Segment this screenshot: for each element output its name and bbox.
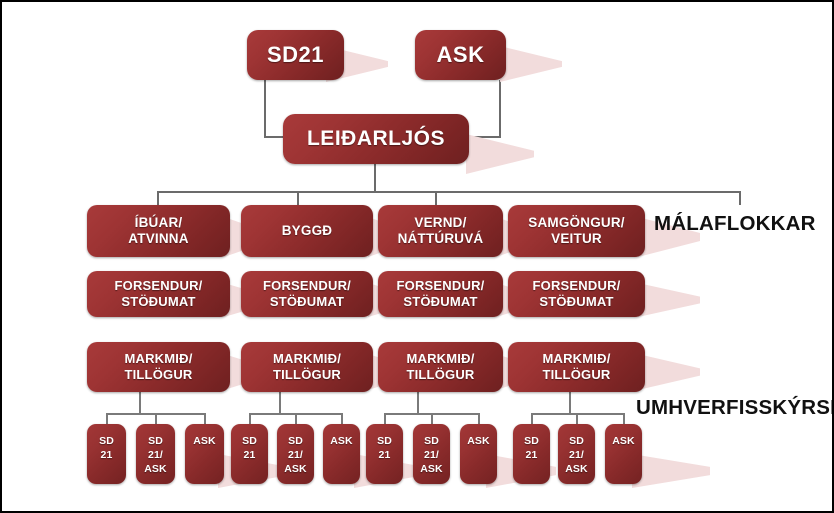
- premises-1-line2: STÖÐUMAT: [115, 294, 203, 310]
- node-leaf-4-2[interactable]: SD 21/ ASK: [558, 424, 595, 484]
- node-category-vernd[interactable]: VERND/ NÁTTÚRUVÁ: [378, 205, 503, 257]
- node-leaf-3-2[interactable]: SD 21/ ASK: [413, 424, 450, 484]
- category-ibuar-line1: ÍBÚAR/: [128, 215, 188, 231]
- leaf-4-1-line1: SD: [524, 435, 539, 449]
- connector-leaf-3-1: [384, 413, 386, 424]
- connector-bus-col2: [297, 191, 299, 205]
- connector-leaf-4-1: [531, 413, 533, 424]
- category-byggd-line1: BYGGÐ: [282, 223, 333, 239]
- caption-umhverfisskyrsla: UMHVERFISSKÝRSLA: [636, 396, 834, 420]
- goals-3-line2: TILLÖGUR: [406, 367, 474, 383]
- node-premises-4[interactable]: FORSENDUR/ STÖÐUMAT: [508, 271, 645, 317]
- node-leaf-2-3[interactable]: ASK: [323, 424, 360, 484]
- leaf-3-2-line2: 21/: [420, 449, 442, 463]
- leaf-3-2-line3: ASK: [420, 463, 442, 477]
- node-leaf-4-3[interactable]: ASK: [605, 424, 642, 484]
- connector-ask-to-lead: [466, 136, 501, 138]
- leaf-3-1-line1: SD: [377, 435, 392, 449]
- node-leaf-1-1[interactable]: SD 21: [87, 424, 126, 484]
- leaf-2-2-line1: SD: [284, 435, 306, 449]
- connector-leaf-1-1: [106, 413, 108, 424]
- node-ask-label: ASK: [437, 42, 485, 69]
- connector-leaf-2-3: [341, 413, 343, 424]
- connector-goal1-down: [139, 392, 141, 414]
- node-goals-1[interactable]: MARKMIÐ/ TILLÖGUR: [87, 342, 230, 392]
- node-premises-2[interactable]: FORSENDUR/ STÖÐUMAT: [241, 271, 373, 317]
- connector-bus-col1: [157, 191, 159, 205]
- node-premises-1[interactable]: FORSENDUR/ STÖÐUMAT: [87, 271, 230, 317]
- leaf-2-1-line1: SD: [242, 435, 257, 449]
- node-category-byggd[interactable]: BYGGÐ: [241, 205, 373, 257]
- leaf-2-1-line2: 21: [242, 449, 257, 463]
- premises-1-line1: FORSENDUR/: [115, 278, 203, 294]
- connector-leaf-1-3: [204, 413, 206, 424]
- premises-3-line1: FORSENDUR/: [397, 278, 485, 294]
- premises-2-line1: FORSENDUR/: [263, 278, 351, 294]
- goals-4-line1: MARKMIÐ/: [542, 351, 610, 367]
- shadow-leidarljos: [466, 134, 534, 174]
- connector-sd21-down: [264, 80, 266, 138]
- leaf-1-1-line1: SD: [99, 435, 114, 449]
- diagram-canvas: SD21 ASK LEIÐARLJÓS ÍBÚAR/ ATVINNA BYGGÐ…: [0, 0, 834, 513]
- goals-1-line2: TILLÖGUR: [124, 367, 192, 383]
- leaf-1-2-line1: SD: [144, 435, 166, 449]
- goals-2-line1: MARKMIÐ/: [273, 351, 341, 367]
- goals-4-line2: TILLÖGUR: [542, 367, 610, 383]
- node-sd21[interactable]: SD21: [247, 30, 344, 80]
- connector-leaf-3-2: [431, 413, 433, 424]
- leaf-3-3-line1: ASK: [467, 435, 489, 449]
- leaf-1-2-line3: ASK: [144, 463, 166, 477]
- goals-1-line1: MARKMIÐ/: [124, 351, 192, 367]
- connector-ask-down: [499, 80, 501, 138]
- node-category-samgongur[interactable]: SAMGÖNGUR/ VEITUR: [508, 205, 645, 257]
- leaf-4-2-line3: ASK: [565, 463, 587, 477]
- connector-leaf-4-2: [576, 413, 578, 424]
- connector-leaf-1-2: [155, 413, 157, 424]
- leaf-1-1-line2: 21: [99, 449, 114, 463]
- node-leaf-1-2[interactable]: SD 21/ ASK: [136, 424, 175, 484]
- connector-leaf-2-1: [249, 413, 251, 424]
- leaf-4-2-line2: 21/: [565, 449, 587, 463]
- leaf-1-2-line2: 21/: [144, 449, 166, 463]
- node-leaf-2-1[interactable]: SD 21: [231, 424, 268, 484]
- leaf-2-3-line1: ASK: [330, 435, 352, 449]
- category-ibuar-line2: ATVINNA: [128, 231, 188, 247]
- caption-malaflokkar-text: MÁLAFLOKKAR: [654, 212, 816, 235]
- node-sd21-label: SD21: [267, 42, 324, 69]
- node-leidarljos[interactable]: LEIÐARLJÓS: [283, 114, 469, 164]
- node-premises-3[interactable]: FORSENDUR/ STÖÐUMAT: [378, 271, 503, 317]
- leaf-1-3-line1: ASK: [193, 435, 215, 449]
- connector-goal4-down: [569, 392, 571, 414]
- connector-leaf-4-3: [623, 413, 625, 424]
- leaf-4-1-line2: 21: [524, 449, 539, 463]
- category-bus: [157, 191, 740, 193]
- node-leaf-3-3[interactable]: ASK: [460, 424, 497, 484]
- premises-4-line2: STÖÐUMAT: [533, 294, 621, 310]
- category-vernd-line2: NÁTTÚRUVÁ: [398, 231, 484, 247]
- connector-lead-down: [374, 164, 376, 192]
- shadow-leaf-row-4: [632, 454, 710, 488]
- node-leaf-4-1[interactable]: SD 21: [513, 424, 550, 484]
- node-leaf-3-1[interactable]: SD 21: [366, 424, 403, 484]
- node-goals-2[interactable]: MARKMIÐ/ TILLÖGUR: [241, 342, 373, 392]
- node-leidarljos-label: LEIÐARLJÓS: [307, 126, 445, 152]
- shadow-goal-4: [638, 354, 700, 390]
- leaf-3-2-line1: SD: [420, 435, 442, 449]
- caption-malaflokkar: MÁLAFLOKKAR: [654, 212, 816, 236]
- shadow-mid-4: [638, 283, 700, 317]
- node-goals-3[interactable]: MARKMIÐ/ TILLÖGUR: [378, 342, 503, 392]
- leaf-4-2-line1: SD: [565, 435, 587, 449]
- node-goals-4[interactable]: MARKMIÐ/ TILLÖGUR: [508, 342, 645, 392]
- shadow-ask: [500, 46, 562, 82]
- caption-umhverfisskyrsla-text: UMHVERFISSKÝRSLA: [636, 396, 834, 419]
- node-category-ibuar[interactable]: ÍBÚAR/ ATVINNA: [87, 205, 230, 257]
- premises-3-line2: STÖÐUMAT: [397, 294, 485, 310]
- node-ask[interactable]: ASK: [415, 30, 506, 80]
- connector-goal3-down: [417, 392, 419, 414]
- leaf-2-2-line3: ASK: [284, 463, 306, 477]
- connector-bus-col4: [739, 191, 741, 205]
- connector-leaf-2-2: [295, 413, 297, 424]
- node-leaf-2-2[interactable]: SD 21/ ASK: [277, 424, 314, 484]
- goals-2-line2: TILLÖGUR: [273, 367, 341, 383]
- connector-goal2-down: [279, 392, 281, 414]
- connector-leaf-3-3: [478, 413, 480, 424]
- connector-bus-col3: [435, 191, 437, 205]
- premises-4-line1: FORSENDUR/: [533, 278, 621, 294]
- goals-3-line1: MARKMIÐ/: [406, 351, 474, 367]
- premises-2-line2: STÖÐUMAT: [263, 294, 351, 310]
- node-leaf-1-3[interactable]: ASK: [185, 424, 224, 484]
- leaf-3-1-line2: 21: [377, 449, 392, 463]
- category-samgongur-line1: SAMGÖNGUR/: [528, 215, 625, 231]
- leaf-2-2-line2: 21/: [284, 449, 306, 463]
- category-vernd-line1: VERND/: [398, 215, 484, 231]
- leaf-4-3-line1: ASK: [612, 435, 634, 449]
- category-samgongur-line2: VEITUR: [528, 231, 625, 247]
